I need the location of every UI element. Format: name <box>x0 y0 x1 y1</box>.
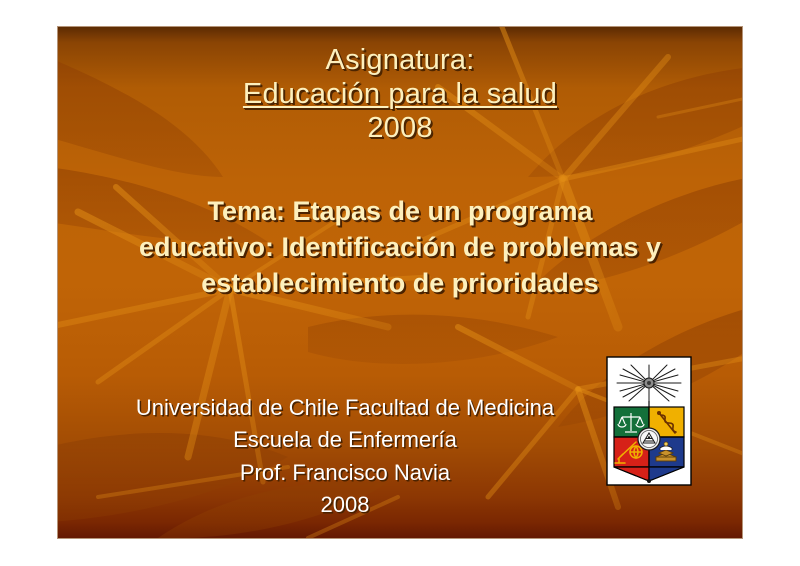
title-main-line-2: educativo: Identificación de problemas y <box>82 230 718 266</box>
subtitle-line-author: Prof. Francisco Navia <box>58 457 632 489</box>
title-top-line-1: Asignatura: <box>58 43 742 77</box>
slide-canvas: Asignatura: Educación para la salud 2008… <box>0 0 800 566</box>
title-main-line-3: establecimiento de prioridades <box>82 266 718 302</box>
title-main-line-1: Tema: Etapas de un programa <box>82 194 718 230</box>
university-emblem-icon <box>603 355 695 491</box>
subtitle-line-institution: Universidad de Chile Facultad de Medicin… <box>58 392 632 424</box>
subtitle-line-school: Escuela de Enfermería <box>58 424 632 456</box>
title-top-line-2: Educación para la salud <box>58 77 742 111</box>
presentation-slide: Asignatura: Educación para la salud 2008… <box>58 27 742 538</box>
subtitle-line-year: 2008 <box>58 489 632 521</box>
slide-title-main: Tema: Etapas de un programa educativo: I… <box>58 194 742 302</box>
title-top-line-3: 2008 <box>58 111 742 145</box>
slide-title-top: Asignatura: Educación para la salud 2008 <box>58 43 742 146</box>
